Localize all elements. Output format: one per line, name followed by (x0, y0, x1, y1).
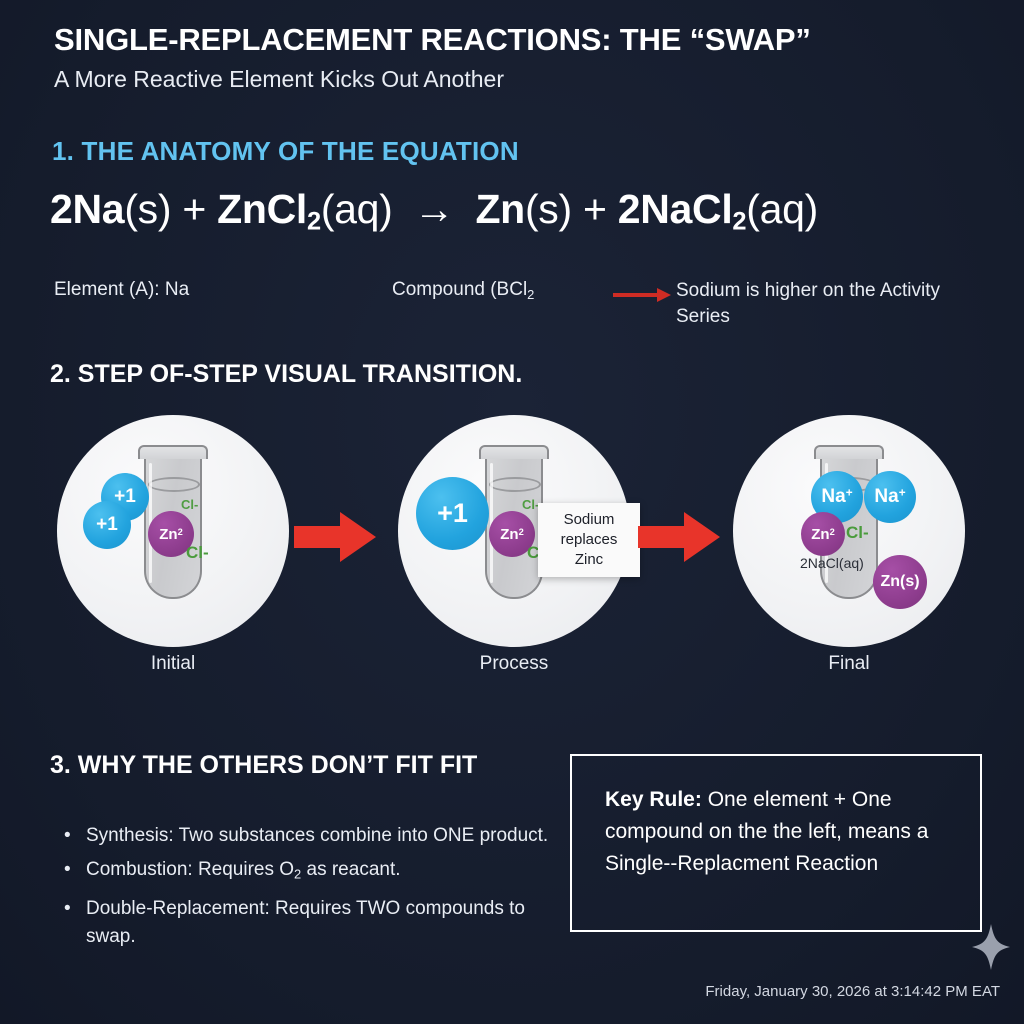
ion-zinc: Zn2 (801, 512, 845, 556)
list-item: Double-Replacement: Requires TWO compoun… (86, 895, 566, 951)
red-block-arrow-icon-1 (294, 508, 376, 566)
tooltip-sodium-replaces-zinc: Sodium replaces Zinc (538, 503, 640, 577)
chloride-label-1: Cl- (846, 523, 869, 543)
page-title: SINGLE-REPLACEMENT REACTIONS: THE “SWAP” (54, 22, 811, 58)
equation-product-sodium-chloride: 2NaCl (618, 186, 733, 232)
bullet-suffix-2: as reacant. (301, 859, 400, 880)
red-block-arrow-icon-2 (638, 508, 720, 566)
equation-reactant-zinc-chloride: ZnCl (217, 186, 307, 232)
equation-state-zncl: (aq) (321, 186, 393, 232)
annotation-element: Element (A): Na (54, 279, 189, 301)
list-item: Synthesis: Two substances combine into O… (86, 822, 566, 850)
stage-process: +1 Zn2 Cl- Cl- Sodium replaces Zinc Proc… (398, 415, 630, 690)
equation-state-sodium: (s) (124, 186, 171, 232)
equation-product-zinc: Zn (475, 186, 525, 232)
infographic-canvas: SINGLE-REPLACEMENT REACTIONS: THE “SWAP”… (0, 0, 1024, 1024)
stage-disc: +1 +1 Zn2 Cl- Cl- (57, 415, 289, 647)
ion-sodium-1: +1 (416, 477, 489, 550)
ion-sodium-2: Na+ (864, 471, 916, 523)
chloride-label-2: Cl- (186, 543, 209, 563)
page-subtitle: A More Reactive Element Kicks Out Anothe… (54, 66, 504, 93)
annotation-compound: Compound (BCl2 (392, 279, 534, 302)
key-rule-text: Key Rule: One element + One compound on … (605, 784, 945, 880)
section-1-heading: 1. THE ANATOMY OF THE EQUATION (52, 136, 519, 167)
annotation-activity-series-note: Sodium is higher on the Activity Series (676, 278, 946, 330)
equation-zncl-subscript: 2 (307, 208, 321, 236)
annotation-compound-text: Compound (BCl (392, 279, 527, 300)
equation-plus-2: + (583, 186, 607, 232)
ion-zinc-solid: Zn(s) (873, 555, 927, 609)
red-arrow-icon (613, 287, 671, 303)
stage-label-final: Final (733, 653, 965, 675)
chloride-label-1: Cl- (522, 497, 539, 512)
ion-sodium-2: +1 (83, 501, 131, 549)
chloride-label-1: Cl- (181, 497, 198, 512)
annotation-compound-subscript: 2 (527, 287, 534, 302)
bullet-text-2: Combustion: Requires O (86, 859, 294, 880)
timestamp: Friday, January 30, 2026 at 3:14:42 PM E… (705, 983, 1000, 1000)
stage-label-initial: Initial (57, 653, 289, 675)
equation-yields-arrow: → (404, 186, 465, 232)
key-rule-label: Key Rule: (605, 788, 702, 811)
sparkle-icon (970, 922, 1012, 972)
equation-reactant-sodium: 2Na (50, 186, 124, 232)
equation-plus-1: + (182, 186, 206, 232)
transition-stages: +1 +1 Zn2 Cl- Cl- Initial (0, 415, 1024, 690)
stage-disc: Na+ Na+ Zn2 Zn(s) Cl- 2NaCl(aq) (733, 415, 965, 647)
section-3-heading: 3. WHY THE OTHERS DON’T FIT FIT (50, 748, 520, 782)
list-item: Combustion: Requires O2 as reacant. (86, 856, 566, 889)
bullet-text-1: Synthesis: Two substances combine into O… (86, 825, 548, 846)
equation-nacl-subscript: 2 (732, 208, 746, 236)
stage-disc: +1 Zn2 Cl- Cl- Sodium replaces Zinc (398, 415, 630, 647)
stage-final: Na+ Na+ Zn2 Zn(s) Cl- 2NaCl(aq) Final (733, 415, 965, 690)
section-2-heading: 2. STEP OF-STEP VISUAL TRANSITION. (50, 360, 522, 389)
reasons-list: Synthesis: Two substances combine into O… (58, 822, 566, 957)
chemical-equation: 2Na(s) + ZnCl2(aq) → Zn(s) + 2NaCl2(aq) (50, 186, 818, 237)
key-rule-box: Key Rule: One element + One compound on … (570, 754, 982, 932)
equation-state-nacl: (aq) (746, 186, 818, 232)
equation-state-zn: (s) (525, 186, 572, 232)
stage-label-process: Process (398, 653, 630, 675)
product-label-nacl: 2NaCl(aq) (800, 555, 864, 571)
stage-initial: +1 +1 Zn2 Cl- Cl- Initial (57, 415, 289, 690)
bullet-text-3: Double-Replacement: Requires TWO compoun… (86, 898, 525, 947)
